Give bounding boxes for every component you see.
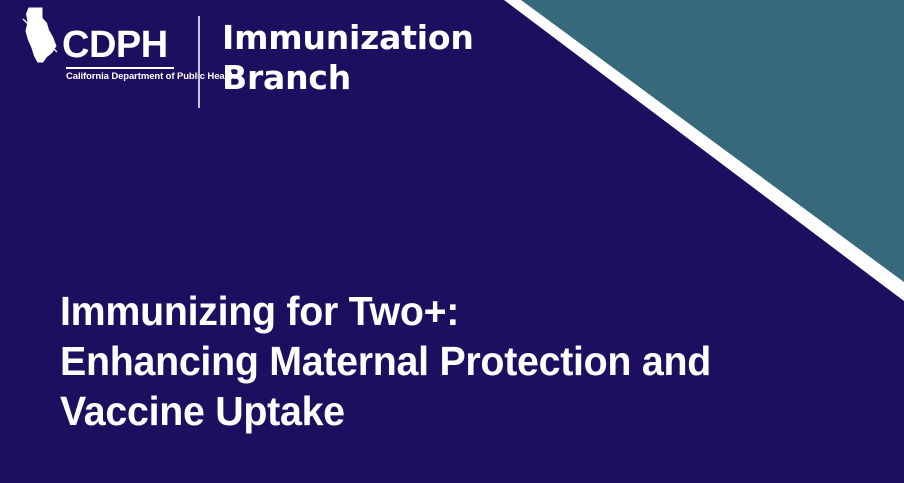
logo-divider-rule bbox=[66, 67, 174, 69]
california-outline-icon bbox=[22, 6, 60, 64]
brand-lockup: CDPH California Department of Public Hea… bbox=[22, 14, 474, 109]
cdph-wordmark: CDPH bbox=[62, 26, 168, 64]
slide-title: Immunizing for Two+: Enhancing Maternal … bbox=[60, 286, 847, 436]
white-diagonal-stripe bbox=[504, 0, 904, 301]
branch-name: Immunization Branch bbox=[222, 14, 474, 98]
cdph-logo: CDPH California Department of Public Hea… bbox=[22, 14, 174, 83]
presentation-slide: CDPH California Department of Public Hea… bbox=[0, 0, 904, 483]
cdph-logo-primary: CDPH bbox=[22, 18, 168, 64]
teal-corner-triangle bbox=[520, 0, 904, 283]
cdph-agency-name: California Department of Public Health bbox=[66, 71, 236, 83]
brand-vertical-divider bbox=[198, 16, 200, 108]
